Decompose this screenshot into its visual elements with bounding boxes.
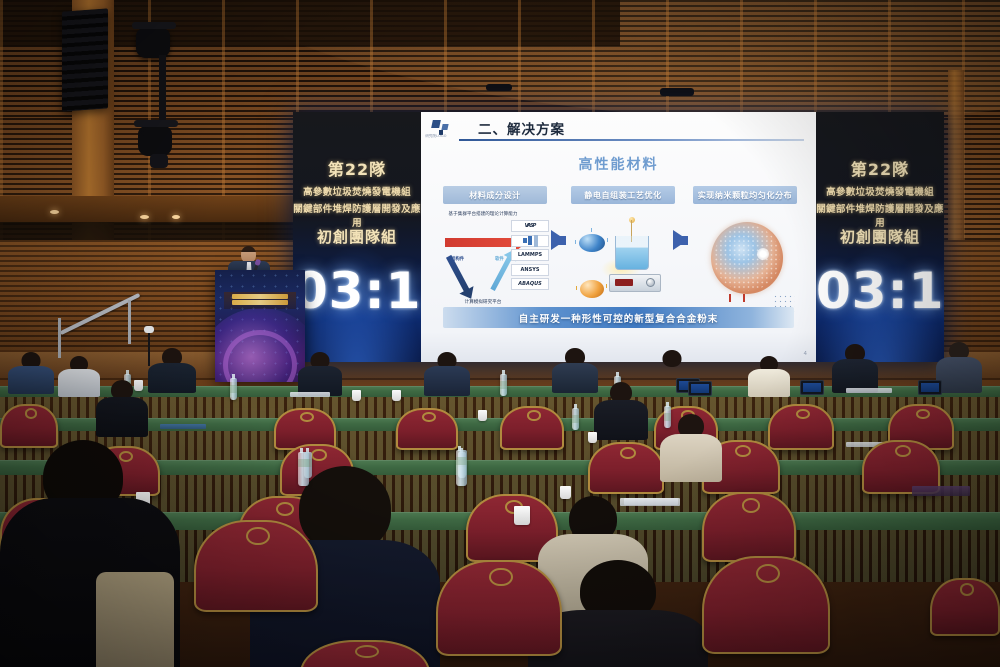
judge-2 (58, 356, 100, 394)
nanoparticle-marker-2 (743, 294, 745, 302)
nanoparticle-highlight (757, 248, 769, 260)
software-logo-group: VASP LAMMPS ANSYS ABAQUS (511, 220, 549, 293)
chair (588, 442, 664, 494)
water-bottle (500, 374, 507, 396)
stage-light-yoke-upper (132, 22, 176, 29)
judge-6 (552, 348, 598, 392)
process-arrow-1-icon (551, 230, 566, 250)
slide-footer-banner: 自主研发一种形性可控的新型复合合金粉末 (443, 307, 794, 328)
led-video-wall: 第22隊 高參數垃圾焚燒發電機組 關鍵部件堆焊防護層開發及應用 初創團隊組 03… (293, 112, 944, 362)
blue-particle-icon (579, 234, 605, 252)
judge-laptop-4 (688, 381, 712, 396)
slide-section-title: 二、解决方案 (478, 118, 565, 138)
attendee-torso (96, 397, 148, 437)
judge-9 (832, 344, 878, 392)
project-title-left-line1: 高參數垃圾焚燒發電機組 (293, 184, 421, 198)
judge-10 (936, 342, 982, 392)
particle-spark-3 (591, 228, 592, 232)
balcony-band (0, 196, 300, 222)
particle-spark-5 (606, 284, 607, 288)
column-3-caption: 实现纳米颗粒均匀化分布 (693, 186, 797, 204)
paper-cup (352, 390, 361, 401)
chair (930, 578, 1000, 636)
column-1-body: 基于集群平台搭建的理论计算能力 结构件 软件 计算模拟研究平台 VASP LAM… (443, 212, 547, 320)
judge-3 (148, 348, 196, 392)
slide-page-number: 4 (804, 351, 808, 357)
water-bottle-foreground-2 (456, 450, 467, 486)
orange-particle-icon (580, 280, 604, 298)
judge-4 (298, 352, 342, 394)
judge-8 (748, 356, 790, 394)
chair-foreground-2 (436, 560, 562, 656)
beaker-icon (615, 236, 649, 270)
attendee-row2-1 (660, 414, 722, 480)
particle-spark-2 (607, 238, 608, 242)
judge-5 (424, 352, 470, 394)
judge-torso (424, 366, 470, 396)
water-bottle-foreground-1 (298, 452, 309, 486)
particle-spark-4 (576, 286, 577, 290)
paper-cup (478, 410, 487, 421)
documents (160, 424, 206, 429)
led-panel-right: 第22隊 高參數垃圾焚燒發電機組 關鍵部件堆焊防護層開發及應用 初創團隊組 03… (816, 112, 944, 362)
team-number-left: 第22隊 (293, 156, 421, 180)
nanoparticle-marker-1 (729, 294, 731, 302)
judge-laptop-2 (800, 380, 824, 395)
team-category-left: 初創團隊組 (293, 226, 421, 247)
stair-railing-post (58, 318, 61, 358)
ceiling-light-fixture-2 (486, 84, 512, 91)
chair-foreground-1 (194, 520, 318, 612)
conference-hall-photo: 第22隊 高參數垃圾焚燒發電機組 關鍵部件堆焊防護層開發及應用 初創團隊組 03… (0, 0, 1000, 667)
stage-light-yoke-lower (134, 120, 178, 127)
balcony-downlight-2 (140, 215, 149, 219)
judge-laptop-3 (918, 380, 942, 395)
balcony-downlight-1 (50, 210, 59, 214)
project-title-left-line2: 關鍵部件堆焊防護層開發及應用 (293, 201, 421, 229)
stair-railing-post-2 (128, 300, 131, 344)
chair-foreground-3 (702, 556, 830, 654)
documents (620, 498, 680, 506)
project-title-right-line1: 高參數垃圾焚燒發電機組 (816, 184, 944, 198)
column-1-note-top: 基于集群平台搭建的理论计算能力 (445, 212, 521, 218)
countdown-timer-right: 03:11 (816, 262, 944, 320)
judge-torso (552, 363, 598, 393)
chair (396, 408, 458, 450)
hotplate-stirrer-icon (609, 274, 661, 292)
column-2-caption: 静电自组装工艺优化 (571, 186, 675, 204)
documents (290, 392, 330, 397)
stage-light-pole (159, 55, 166, 125)
judge-torso (148, 363, 196, 393)
slide-headline: 高性能材料 (421, 154, 816, 174)
water-bottle (230, 378, 237, 400)
hotplate-display (615, 279, 633, 286)
hotplate-knob (646, 278, 655, 287)
paper-cup (392, 390, 401, 401)
red-arrow-icon (445, 238, 517, 247)
attendee-torso (594, 400, 648, 440)
lammps-logo: LAMMPS (511, 249, 549, 261)
team-category-right: 初創團隊組 (816, 226, 944, 247)
podium-banner (224, 292, 296, 309)
particle-spark-1 (575, 240, 576, 244)
led-panel-left: 第22隊 高參數垃圾焚燒發電機組 關鍵部件堆焊防護層開發及應用 初創團隊組 03… (293, 112, 421, 362)
paper-cup-foreground (514, 506, 530, 525)
judge-torso (8, 366, 54, 394)
team-number-right: 第22隊 (816, 156, 944, 180)
attendee-torso (660, 434, 722, 482)
magazine (912, 486, 970, 496)
vasp-logo: VASP (511, 220, 549, 232)
attendee-row1-2 (594, 382, 648, 438)
judge-torso (58, 369, 100, 397)
slide-column-1: 材料成分设计 基于集群平台搭建的理论计算能力 结构件 软件 计算模拟研究平台 V… (443, 186, 547, 320)
mic-head-left (144, 326, 154, 333)
ceiling-light-fixture (660, 88, 694, 96)
column-1-caption: 材料成分设计 (443, 186, 547, 204)
water-bottle (572, 408, 579, 430)
arrow-label-right: 软件 (495, 256, 504, 262)
chart-logo-icon (511, 235, 549, 247)
chair (702, 492, 796, 562)
documents (846, 388, 892, 393)
slide-title-rule (459, 139, 804, 141)
nanoparticle-sphere-icon (711, 222, 783, 294)
foreground-attendee-left-trousers (96, 572, 174, 667)
slide-column-2: 静电自组装工艺优化 (571, 186, 675, 320)
process-arrow-2-icon (673, 230, 688, 250)
chair (768, 404, 834, 450)
judge-torso (936, 357, 982, 393)
judge-1 (8, 352, 54, 392)
line-array-speaker (62, 8, 108, 111)
abaqus-logo: ABAQUS (511, 278, 549, 290)
project-title-right-line2: 關鍵部件堆焊防護層開發及應用 (816, 201, 944, 229)
column-2-body (571, 212, 675, 320)
countdown-timer-left: 03:11 (293, 262, 421, 320)
stage-light-lower (138, 126, 172, 156)
column-1-note-bottom: 计算模拟研究平台 (445, 300, 521, 306)
slide-column-3: 实现纳米颗粒均匀化分布 (693, 186, 797, 320)
paper-cup (588, 432, 597, 443)
stage-light-upper (136, 28, 170, 58)
balcony-downlight-3 (172, 215, 180, 219)
attendee-row1-1 (96, 380, 148, 436)
judge-torso (748, 369, 790, 397)
stage-light-head (150, 154, 168, 168)
institute-logo-text: 研究院LOGO (421, 133, 451, 138)
column-3-body (693, 212, 797, 320)
chair (500, 406, 564, 450)
speaking-podium (215, 270, 305, 382)
arrow-label-left: 结构件 (451, 256, 464, 262)
presentation-slide: 研究院LOGO 二、解决方案 高性能材料 材料成分设计 基于集群平台搭建的理论计… (421, 112, 816, 362)
ansys-logo: ANSYS (511, 264, 549, 276)
